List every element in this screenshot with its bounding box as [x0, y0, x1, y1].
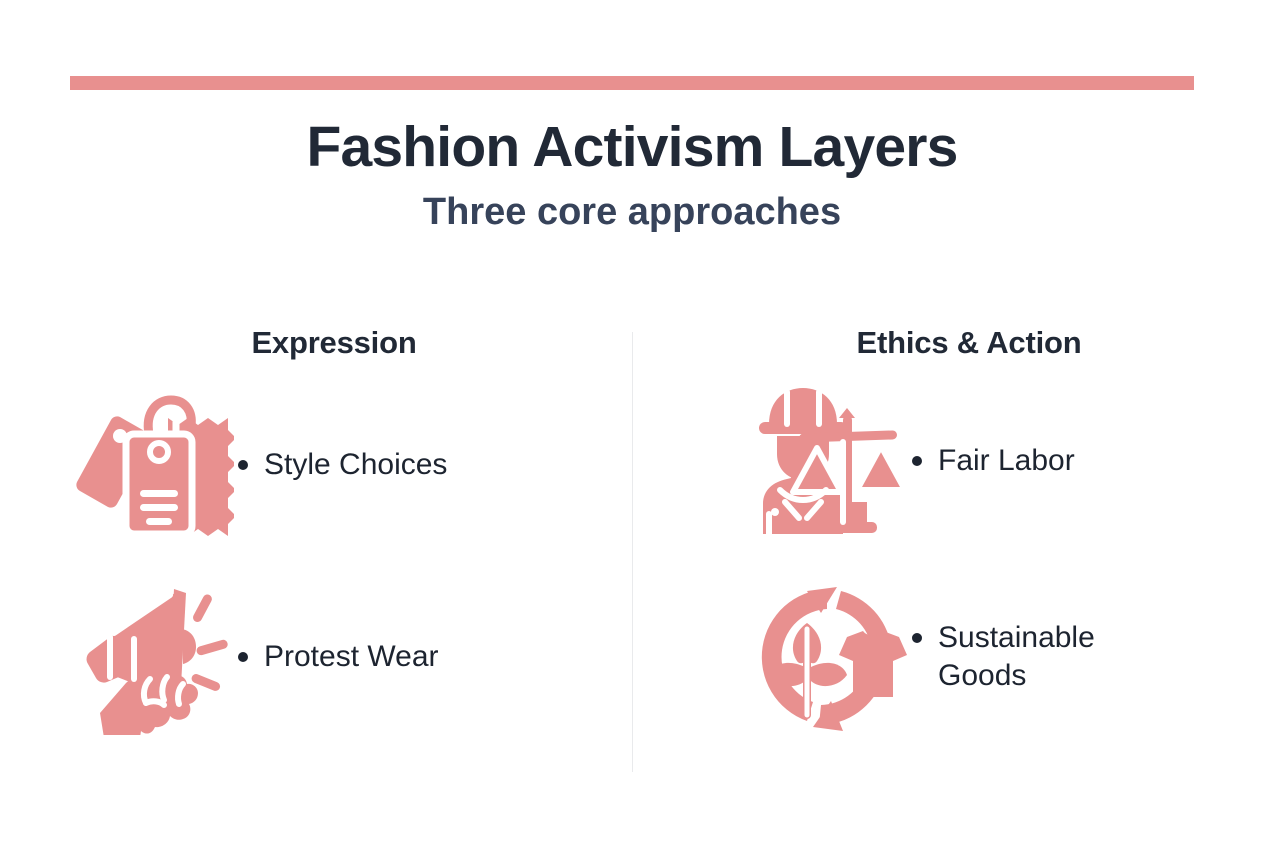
list-item: Protest Wear: [68, 578, 606, 736]
column-ethics-action: Ethics & Action: [632, 326, 1264, 786]
column-heading-expression: Expression: [62, 326, 606, 360]
infographic-canvas: Fashion Activism Layers Three core appro…: [0, 0, 1264, 848]
item-label-sustainable-goods: Sustainable Goods: [912, 619, 1128, 696]
recycle-plant-shirt-icon: [742, 578, 912, 736]
item-list-ethics-action: Fair Labor: [742, 382, 1238, 736]
price-tags-icon: [68, 386, 238, 544]
column-expression: Expression: [0, 326, 632, 786]
page-subtitle: Three core approaches: [0, 192, 1264, 234]
bullet-icon: [238, 460, 248, 470]
item-list-expression: Style Choices: [68, 386, 606, 736]
bullet-icon: [912, 633, 922, 643]
list-item: Fair Labor: [742, 382, 1238, 540]
list-item: Sustainable Goods: [742, 578, 1238, 736]
columns-container: Expression: [0, 326, 1264, 786]
bullet-icon: [912, 456, 922, 466]
item-label-protest-wear: Protest Wear: [238, 638, 439, 676]
item-label-fair-labor: Fair Labor: [912, 442, 1075, 480]
page-title: Fashion Activism Layers: [0, 118, 1264, 178]
top-accent-bar: [70, 76, 1194, 90]
header: Fashion Activism Layers Three core appro…: [0, 118, 1264, 234]
bullet-icon: [238, 652, 248, 662]
column-heading-ethics-action: Ethics & Action: [700, 326, 1238, 360]
item-label-style-choices: Style Choices: [238, 446, 447, 484]
megaphone-fist-icon: [68, 578, 238, 736]
list-item: Style Choices: [68, 386, 606, 544]
worker-scales-icon: [742, 382, 912, 540]
